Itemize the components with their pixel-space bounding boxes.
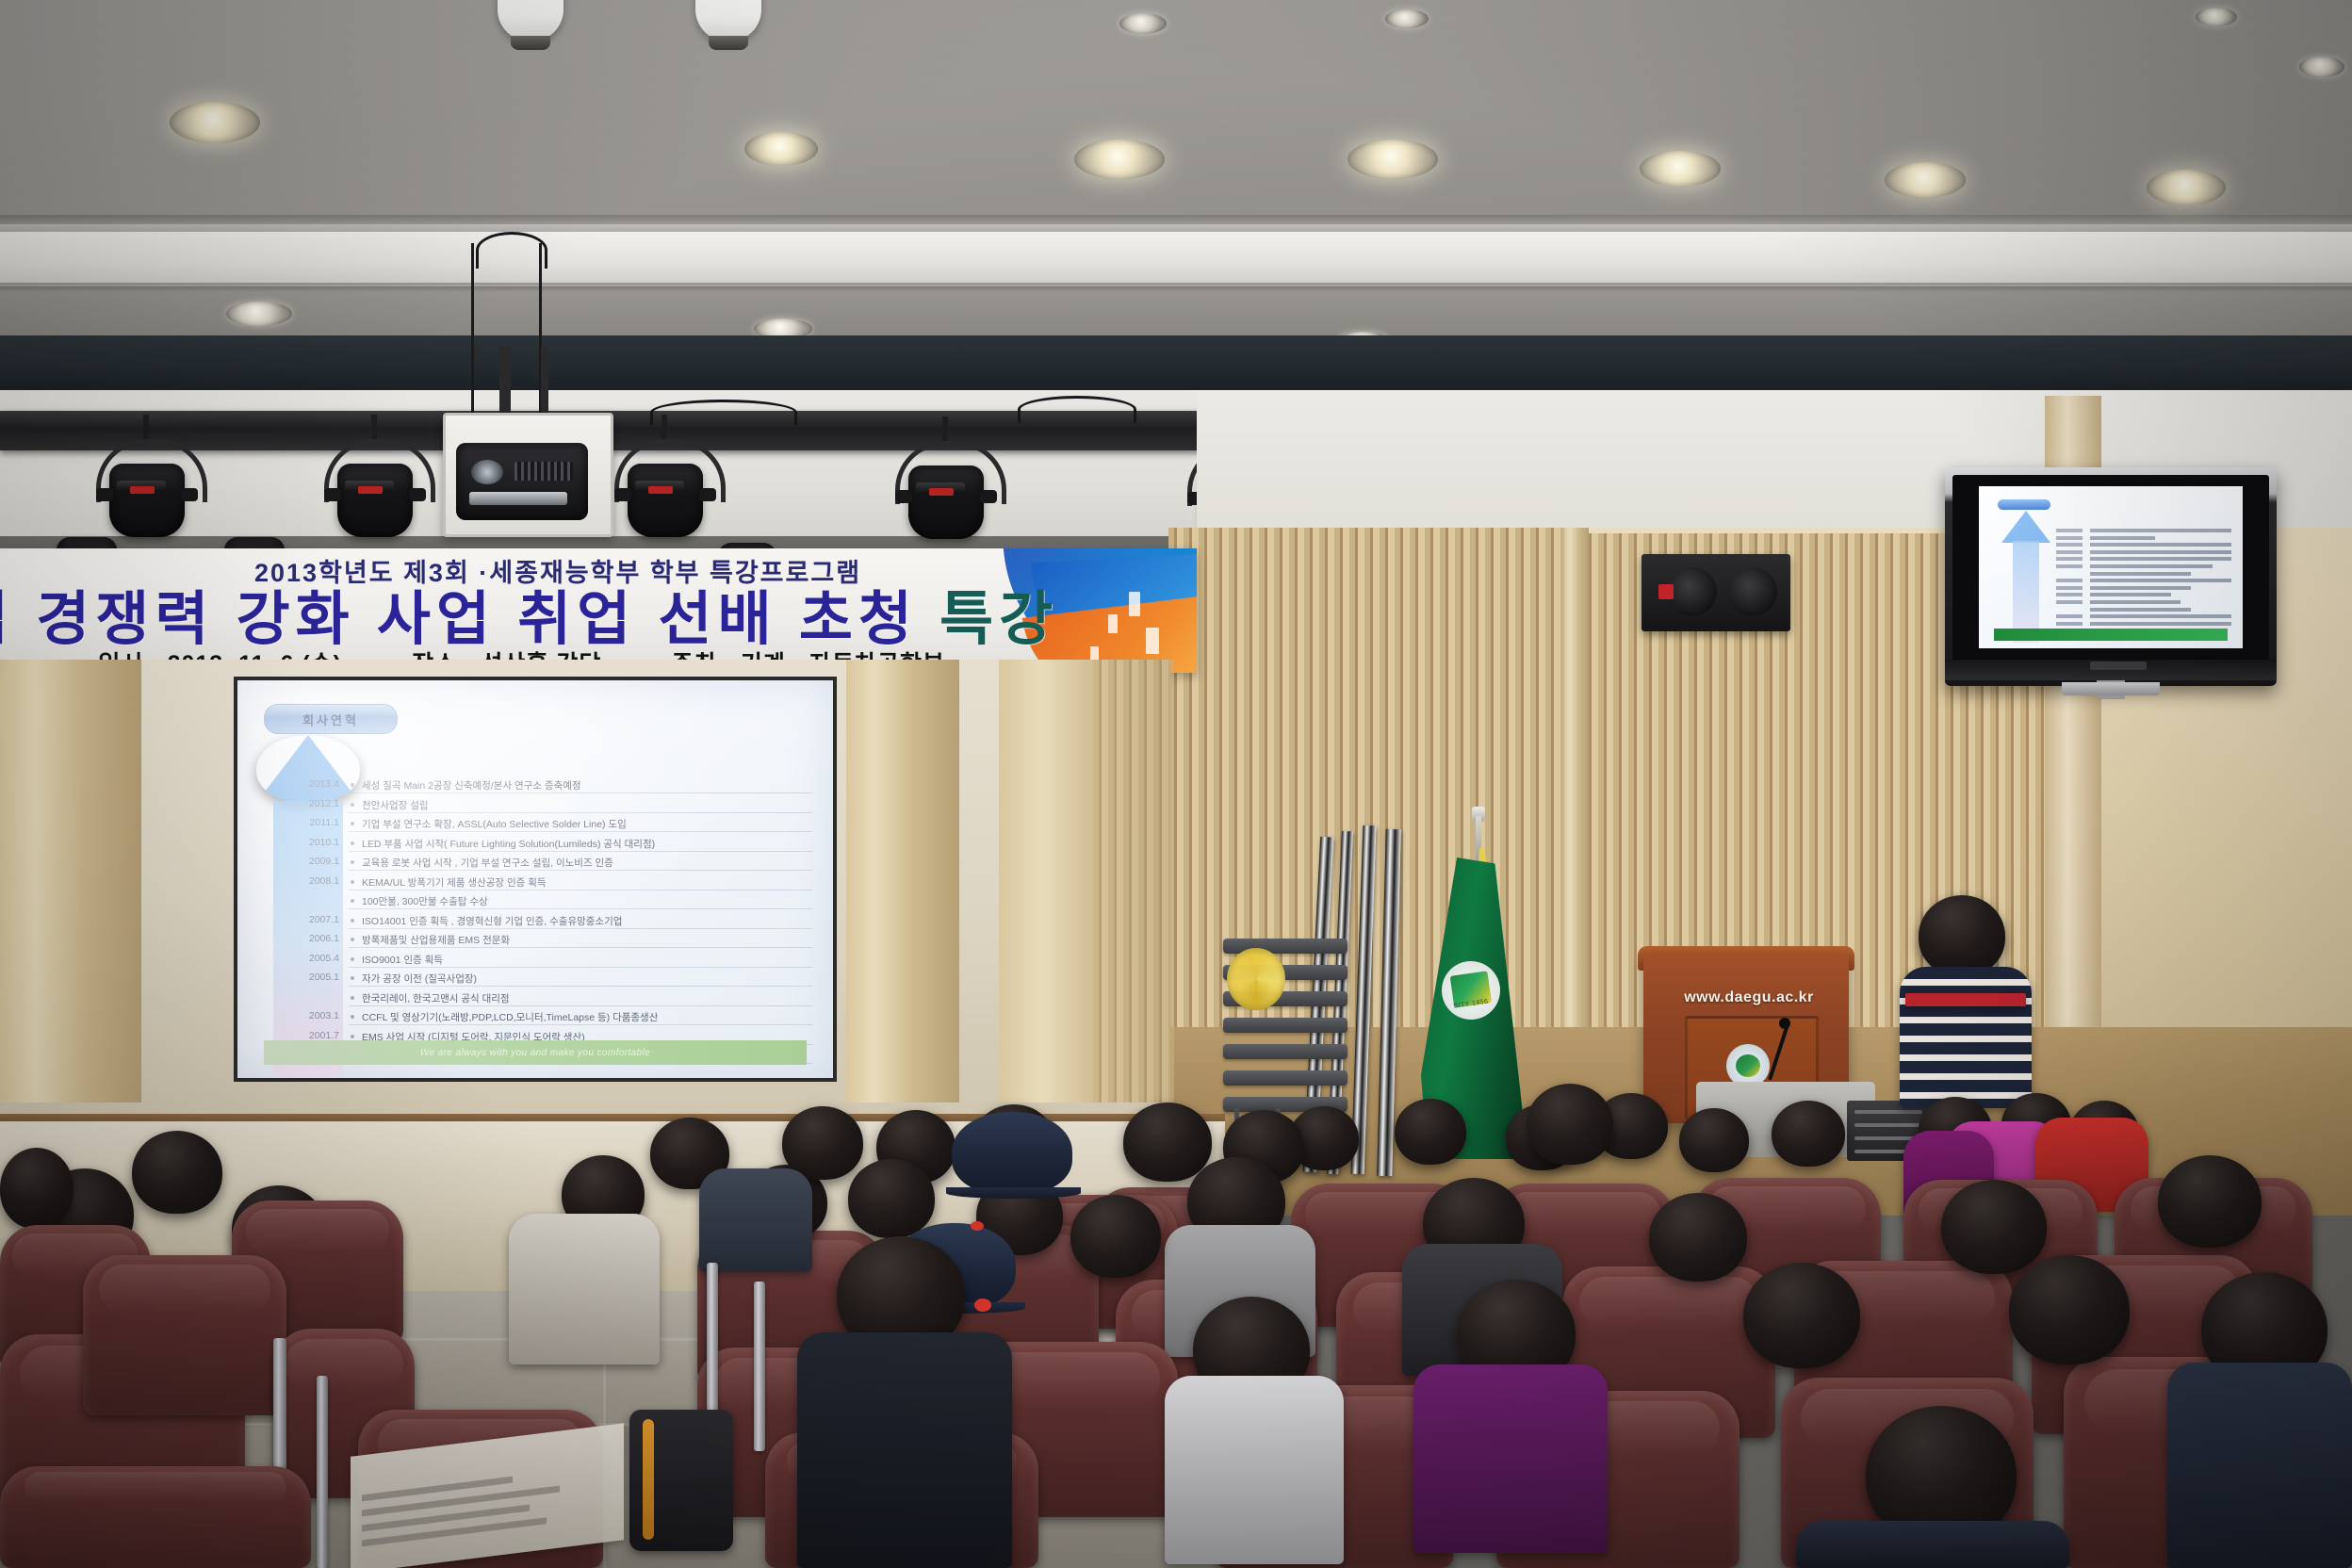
slide-timeline-row: 2003.1CCFL 및 영상기기(노래방,PDP,LCD,모니터,TimeLa… [264,1010,812,1030]
slide-row-text: 세성 질곡 Main 2공장 신축예정/본사 연구소 증축예정 [349,778,812,793]
downlight-icon [1119,13,1167,34]
projector-lens-icon [471,460,503,484]
cable [476,232,547,269]
backpack[interactable] [629,1410,733,1551]
slide-title-pill: 회사연혁 [264,704,398,734]
audience-body [2167,1363,2352,1568]
downlight-icon [1074,139,1165,179]
audience-head [1123,1102,1212,1182]
slide-row-text: 자가 공장 이전 (질곡사업장) [349,972,812,987]
slide-row-year: 2010.1 [264,837,349,848]
banner-title: 업 경쟁력 강화 사업 취업 선배 초청 특강 [0,571,1058,656]
slide-row-text: ISO9001 인증 획득 [349,953,812,968]
projector-base [469,492,567,505]
slide-row-year: 2006.1 [264,933,349,944]
audience-body [509,1214,660,1364]
banner-title-main: 업 경쟁력 강화 사업 취업 선배 초청 [0,587,939,652]
downlight-icon [1385,9,1429,28]
slide-row-text: LED 부품 사업 시작( Future Lighting Solution(L… [349,837,812,852]
auditorium-seat[interactable] [83,1255,286,1415]
projection-screen: 회사연혁 2013.4세성 질곡 Main 2공장 신축예정/본사 연구소 증축… [237,680,833,1078]
projector-mount [541,347,548,420]
audience-body [1413,1364,1608,1553]
slide-row-year: 2005.1 [264,972,349,983]
audience-body [699,1168,812,1272]
audience-body [1796,1521,2069,1568]
audience-head [0,1148,73,1229]
downlight-icon [226,302,292,326]
audience-head [2009,1255,2130,1364]
projector-vent [514,462,573,481]
audience-head [132,1131,222,1214]
slide-row-text: 방폭제품및 산업용제품 EMS 전문화 [349,933,812,948]
slide-timeline-row: 2005.4ISO9001 인증 획득 [264,953,812,972]
slide-timeline-row: 2009.1교육용 로봇 사업 시작 , 기업 부설 연구소 설립, 이노비즈 … [264,856,812,875]
audience-body [797,1332,1012,1568]
slide-timeline-rows: 2013.4세성 질곡 Main 2공장 신축예정/본사 연구소 증축예정201… [264,778,812,1069]
audience-cap-icon [952,1112,1072,1195]
slide-row-text: 100만불, 300만불 수출탑 수상 [349,894,812,909]
audience-head [782,1106,863,1180]
audience-head [1679,1108,1749,1172]
wall-speaker-icon [1641,554,1790,631]
downlight-icon [1640,151,1721,187]
podium-url-text: www.daegu.ac.kr [1664,989,1834,1006]
slide-footer: We are always with you and make you comf… [264,1040,807,1065]
audience-head [1941,1180,2047,1274]
audience-head [1649,1193,1747,1282]
audience-head [1070,1195,1161,1278]
wood-pillar [0,660,141,1102]
tv-stand [2062,682,2160,695]
microphone-head-icon [1779,1018,1790,1029]
audience-head [2158,1155,2262,1248]
downlight-icon [2299,57,2344,77]
slide-timeline-row: 2008.1KEMA/UL 방폭기기 제품 생산공장 인증 획득 [264,875,812,895]
stage-light-icon [622,437,709,539]
slide-row-text: 천안사업장 설립 [349,798,812,813]
slide-row-text: KEMA/UL 방폭기기 제품 생산공장 인증 획득 [349,875,812,890]
audience-body [1165,1376,1344,1564]
cap-logo-icon [971,1221,984,1231]
audience-head [1743,1263,1860,1368]
slide-timeline-row: 2006.1방폭제품및 산업용제품 EMS 전문화 [264,933,812,953]
slide-row-year: 2009.1 [264,856,349,867]
ceiling-valance [0,232,2352,286]
cap-logo-icon [974,1298,991,1312]
wood-slat-panel [1093,660,1174,1102]
seat-rail[interactable] [317,1376,328,1568]
slide-row-text: 기업 부설 연구소 확장, ASSL(Auto Selective Solder… [349,817,812,832]
projector [456,443,588,520]
audience-head [848,1159,935,1238]
tv-brand-logo [2090,661,2147,670]
presenter-sweater-stripe [1905,993,2026,1006]
cable [650,400,797,425]
audience-head [1527,1084,1613,1165]
stage-light-icon [903,439,989,541]
stage-light-icon [332,437,418,539]
projector-mount [499,347,511,420]
slide-timeline-row: 2007.1ISO14001 인증 획득 , 경영혁신형 기업 인증, 수출유망… [264,914,812,934]
downlight-icon [170,102,260,143]
slide-timeline-row: 2010.1LED 부품 사업 시작( Future Lighting Solu… [264,837,812,857]
slide-row-year: 2013.4 [264,778,349,790]
slide-row-year: 2008.1 [264,875,349,887]
event-banner: 2013학년도 제3회 ·세종재능학부 학부 특강프로그램 업 경쟁력 강화 사… [0,548,1197,673]
tv-glare [1979,486,2243,648]
valance-shadow [0,283,2352,292]
wood-trim [1564,528,1589,1055]
downlight-icon [1347,139,1438,179]
slide-row-year: 2005.4 [264,953,349,964]
slide-timeline-row: 100만불, 300만불 수출탑 수상 [264,894,812,914]
slide-title-text: 회사연혁 [302,710,359,728]
audience-head [1772,1101,1845,1167]
slide-row-text: 한국리레이, 한국고맨시 공식 대리점 [349,991,812,1006]
downlight-icon [1885,162,1966,198]
cable [1018,396,1136,423]
auditorium-seat[interactable] [0,1466,311,1568]
ceiling [0,0,2352,219]
slide-row-year: 2001.7 [264,1030,349,1041]
cable [471,243,474,422]
wall-tv-screen [1979,486,2243,648]
slide-footer-text: We are always with you and make you comf… [420,1048,650,1058]
presenter-head [1919,895,2005,976]
slide-row-year: 2011.1 [264,817,349,828]
slide-timeline-row: 2013.4세성 질곡 Main 2공장 신축예정/본사 연구소 증축예정 [264,778,812,798]
dark-ceiling-beam [0,335,2352,390]
presenter-torso [1900,967,2032,1108]
downlight-icon [744,132,818,166]
slide-timeline-row: 한국리레이, 한국고맨시 공식 대리점 [264,991,812,1011]
slide-timeline-row: 2011.1기업 부설 연구소 확장, ASSL(Auto Selective … [264,817,812,837]
slide-row-year: 2007.1 [264,914,349,925]
banner-title-accent: 특강 [939,587,1058,652]
slide-row-text: ISO14001 인증 획득 , 경영혁신형 기업 인증, 수출유망중소기업 [349,914,812,929]
slide-row-year: 2012.1 [264,798,349,809]
stage-light-icon [104,437,190,539]
coiled-cable [1227,948,1285,1010]
wood-pillar [846,660,959,1102]
downlight-icon [2147,170,2226,205]
slide-row-year: 2003.1 [264,1010,349,1021]
auditorium-photo: 2013학년도 제3회 ·세종재능학부 학부 특강프로그램 업 경쟁력 강화 사… [0,0,2352,1568]
audience-head [1395,1099,1466,1165]
downlight-icon [2196,8,2237,26]
slide-row-text: 교육용 로봇 사업 시작 , 기업 부설 연구소 설립, 이노비즈 인증 [349,856,812,871]
slide-timeline-row: 2005.1자가 공장 이전 (질곡사업장) [264,972,812,991]
slide-row-text: CCFL 및 영상기기(노래방,PDP,LCD,모니터,TimeLapse 등)… [349,1010,812,1025]
seat-rail[interactable] [754,1282,765,1451]
slide-timeline-row: 2012.1천안사업장 설립 [264,798,812,818]
